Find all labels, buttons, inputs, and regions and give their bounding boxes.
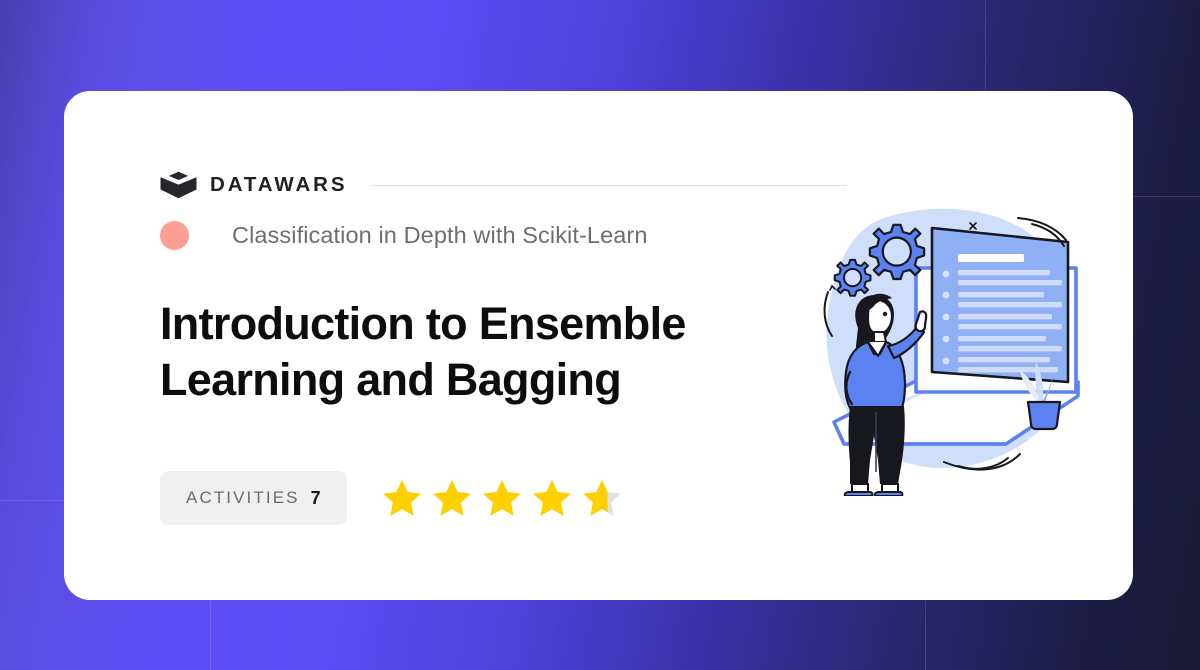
background-gridline-horizontal-right: [1133, 196, 1200, 197]
background-gridline-vertical-bottom-left: [210, 601, 211, 670]
background-gridline-vertical-bottom-right: [925, 601, 926, 670]
star-icon-5-partial: [580, 477, 624, 519]
subtitle-row: Classification in Depth with Scikit-Lear…: [160, 221, 648, 250]
gear-large-icon: [870, 225, 924, 279]
category-dot-icon: [160, 221, 189, 250]
datawars-chevron-logo-icon: [160, 171, 197, 199]
star-icon-4: [530, 477, 574, 519]
background-gridline-horizontal-left: [0, 500, 64, 501]
star-icon-1: [380, 477, 424, 519]
brand-row: DATAWARS: [160, 171, 846, 199]
activities-badge[interactable]: ACTIVITIES 7: [160, 471, 347, 525]
gear-small-icon: [835, 260, 871, 296]
page-title: Introduction to Ensemble Learning and Ba…: [160, 296, 780, 408]
course-subtitle: Classification in Depth with Scikit-Lear…: [232, 222, 648, 249]
poster-canvas: DATAWARS Classification in Depth with Sc…: [0, 0, 1200, 670]
background-gridline-vertical-top: [985, 0, 986, 92]
brand-name: DATAWARS: [210, 173, 347, 197]
woman-presenting-checklist-illustration: [806, 196, 1106, 496]
star-icon-2: [430, 477, 474, 519]
footer-row: ACTIVITIES 7: [160, 471, 624, 525]
brand-divider: [371, 185, 846, 186]
star-icon-3: [480, 477, 524, 519]
rating-stars: [380, 477, 624, 519]
activities-label: ACTIVITIES: [186, 488, 300, 508]
activities-count: 7: [311, 488, 321, 509]
course-card: DATAWARS Classification in Depth with Sc…: [64, 91, 1133, 600]
